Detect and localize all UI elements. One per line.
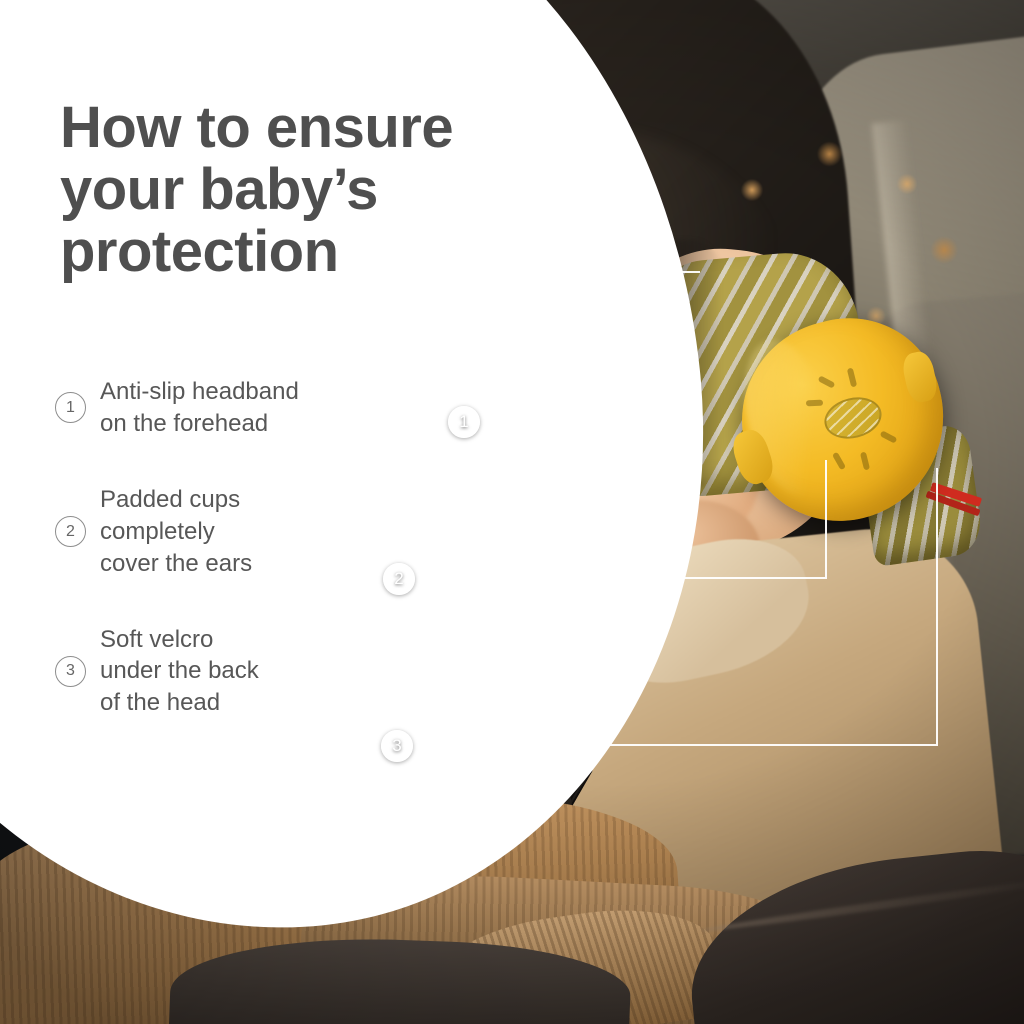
list-item-text: Padded cups completely cover the ears xyxy=(100,484,252,580)
feature-list: 1 Anti-slip headband on the forehead 2 P… xyxy=(55,376,395,763)
callout-marker-3: 3 xyxy=(381,730,413,762)
list-item-text-line: Anti-slip headband xyxy=(100,376,299,408)
callout-marker-2: 2 xyxy=(383,563,415,595)
callout-marker-1: 1 xyxy=(448,406,480,438)
list-item-text-line: cover the ears xyxy=(100,548,252,580)
list-item-number-badge: 2 xyxy=(55,516,86,547)
page-title: How to ensure your baby’s protection xyxy=(60,97,580,283)
list-item-text: Soft velcro under the back of the head xyxy=(100,624,259,720)
list-item-number-badge: 1 xyxy=(55,392,86,423)
infographic-canvas: How to ensure your baby’s protection 1 A… xyxy=(0,0,1024,1024)
list-item-text: Anti-slip headband on the forehead xyxy=(100,376,299,440)
page-title-line-2: your baby’s xyxy=(60,159,580,221)
list-item-text-line: Soft velcro xyxy=(100,624,259,656)
list-item-text-line: of the head xyxy=(100,687,259,719)
page-title-line-3: protection xyxy=(60,221,580,283)
list-item-number-badge: 3 xyxy=(55,656,86,687)
list-item: 2 Padded cups completely cover the ears xyxy=(55,484,395,580)
list-item-text-line: under the back xyxy=(100,655,259,687)
list-item-text-line: completely xyxy=(100,516,252,548)
page-title-line-1: How to ensure xyxy=(60,97,580,159)
list-item-text-line: on the forehead xyxy=(100,408,299,440)
list-item: 1 Anti-slip headband on the forehead xyxy=(55,376,395,440)
list-item-text-line: Padded cups xyxy=(100,484,252,516)
list-item: 3 Soft velcro under the back of the head xyxy=(55,624,395,720)
